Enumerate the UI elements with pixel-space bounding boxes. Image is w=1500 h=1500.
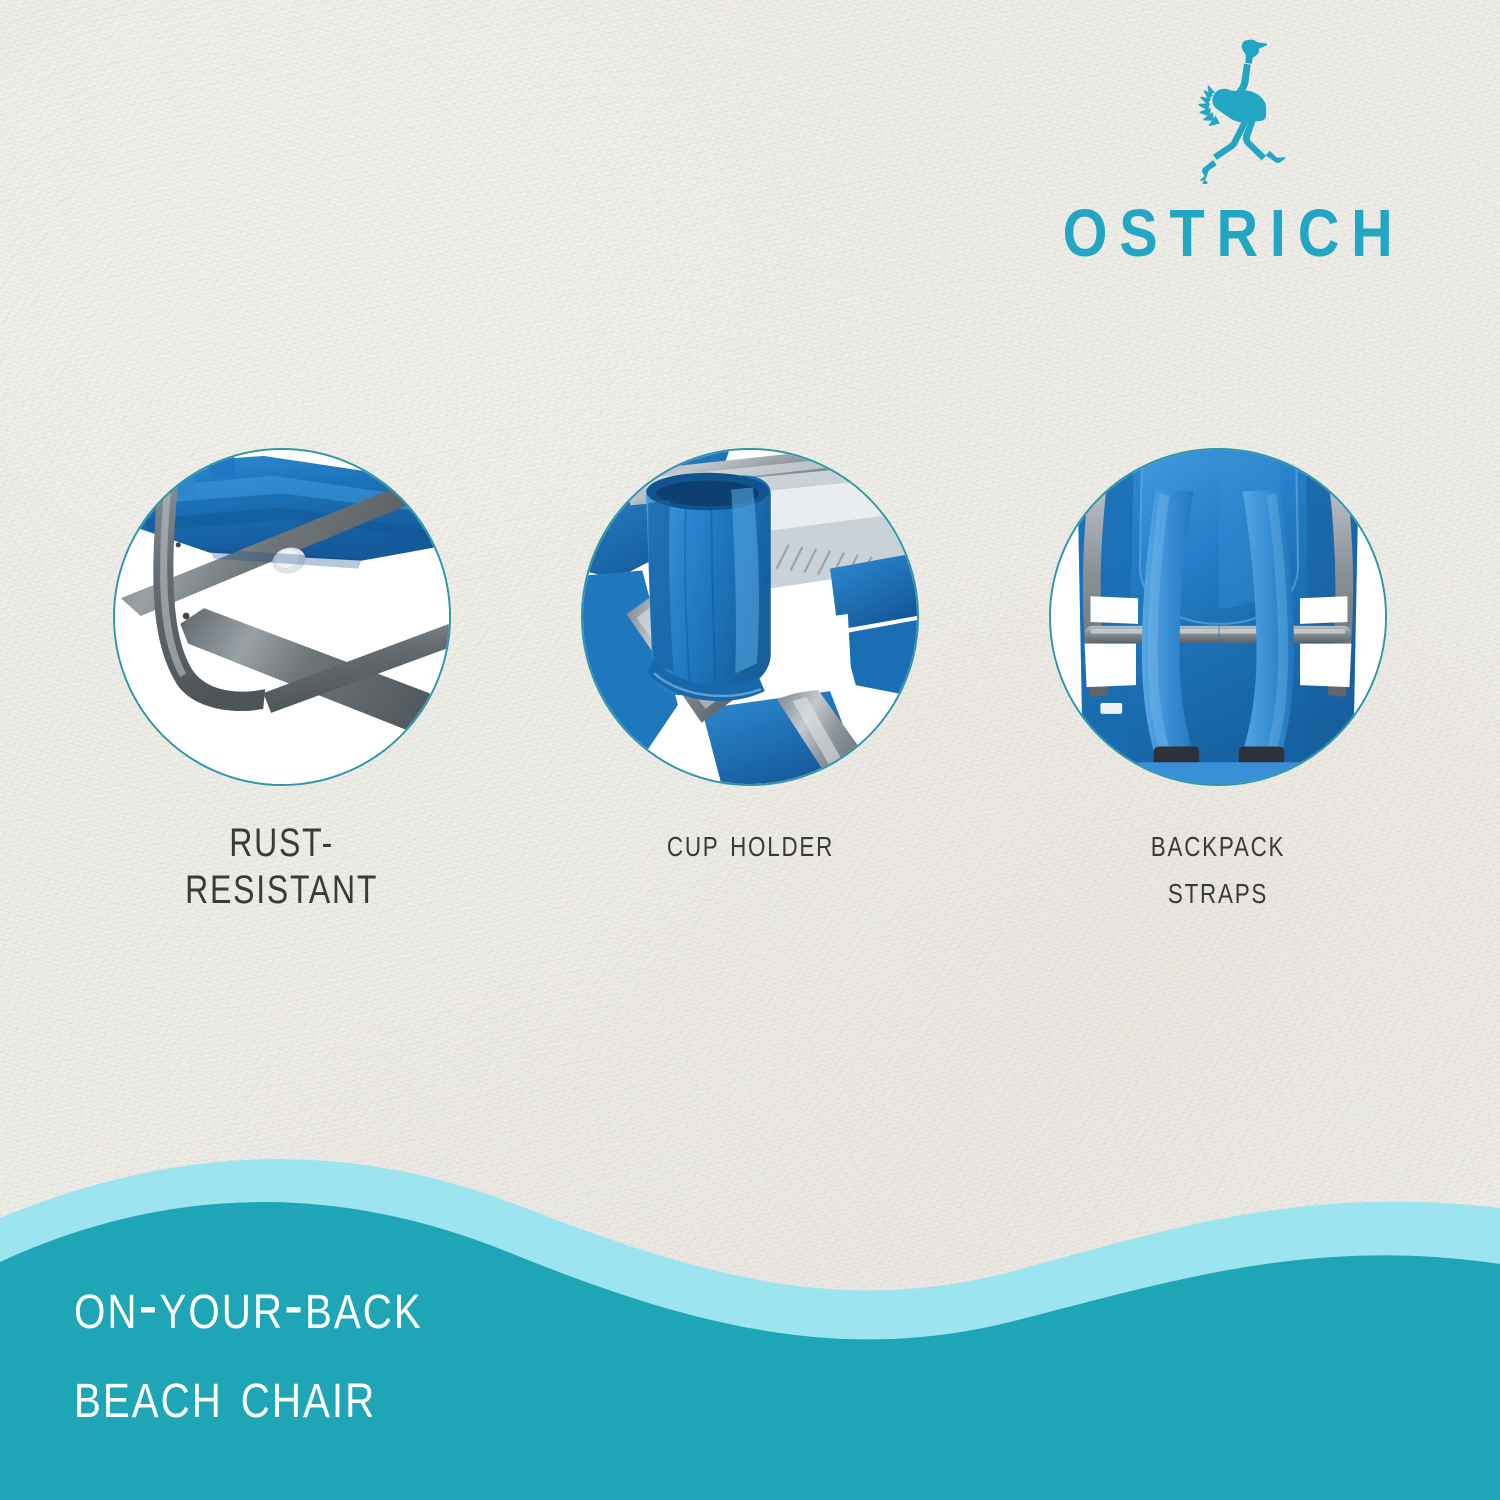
backpack-straps-photo (1051, 450, 1385, 784)
brand-wordmark: OSTRICH (1051, 200, 1405, 267)
brand-logo: OSTRICH (1018, 34, 1438, 267)
feature-rust-resistant: RUST- RESISTANT (112, 448, 452, 914)
product-title: On-Your-Back Beach Chair (74, 1261, 423, 1438)
feature-photo-circle (1049, 448, 1387, 786)
feature-caption: Backpack Straps (1151, 820, 1285, 914)
feature-highlights-row: RUST- RESISTANT (0, 448, 1500, 914)
bottom-wave-banner: On-Your-Back Beach Chair (0, 1140, 1500, 1500)
chair-frame-photo (115, 450, 449, 784)
feature-photo-circle (113, 448, 451, 786)
feature-backpack-straps: Backpack Straps (1048, 448, 1388, 914)
feature-caption: RUST- RESISTANT (185, 820, 378, 914)
ostrich-bird-icon (1143, 34, 1313, 184)
feature-photo-circle (581, 448, 919, 786)
product-infographic: OSTRICH (0, 0, 1500, 1500)
feature-caption: Cup Holder (666, 820, 833, 867)
feature-cup-holder: Cup Holder (580, 448, 920, 914)
cup-holder-photo (583, 450, 917, 784)
